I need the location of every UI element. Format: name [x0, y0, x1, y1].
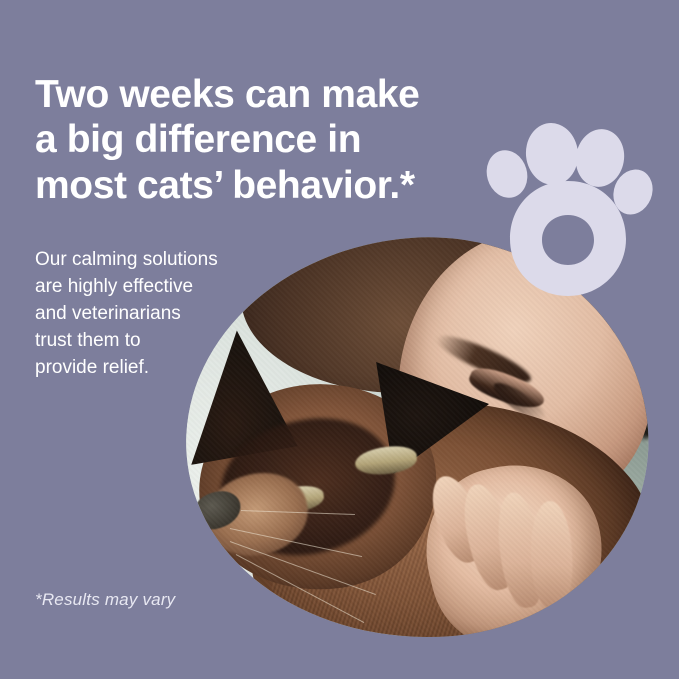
headline-line-2: a big difference in [35, 117, 465, 162]
subcopy-line-1: Our calming solutions [35, 247, 275, 274]
subcopy-line-3: and veterinarians [35, 301, 275, 328]
subcopy-line-4: trust them to [35, 328, 275, 355]
subcopy-line-2: are highly effective [35, 274, 275, 301]
headline: Two weeks can make a big difference in m… [35, 72, 465, 208]
calming-solutions-ad-card: Two weeks can make a big difference in m… [0, 0, 679, 679]
headline-line-3: most cats’ behavior.* [35, 163, 465, 208]
hair-part-line [316, 222, 410, 235]
subcopy-line-5: provide relief. [35, 355, 275, 382]
footnote-disclaimer: *Results may vary [35, 590, 175, 610]
paw-print-icon [476, 118, 656, 298]
subcopy: Our calming solutions are highly effecti… [35, 247, 275, 382]
headline-line-1: Two weeks can make [35, 72, 465, 117]
